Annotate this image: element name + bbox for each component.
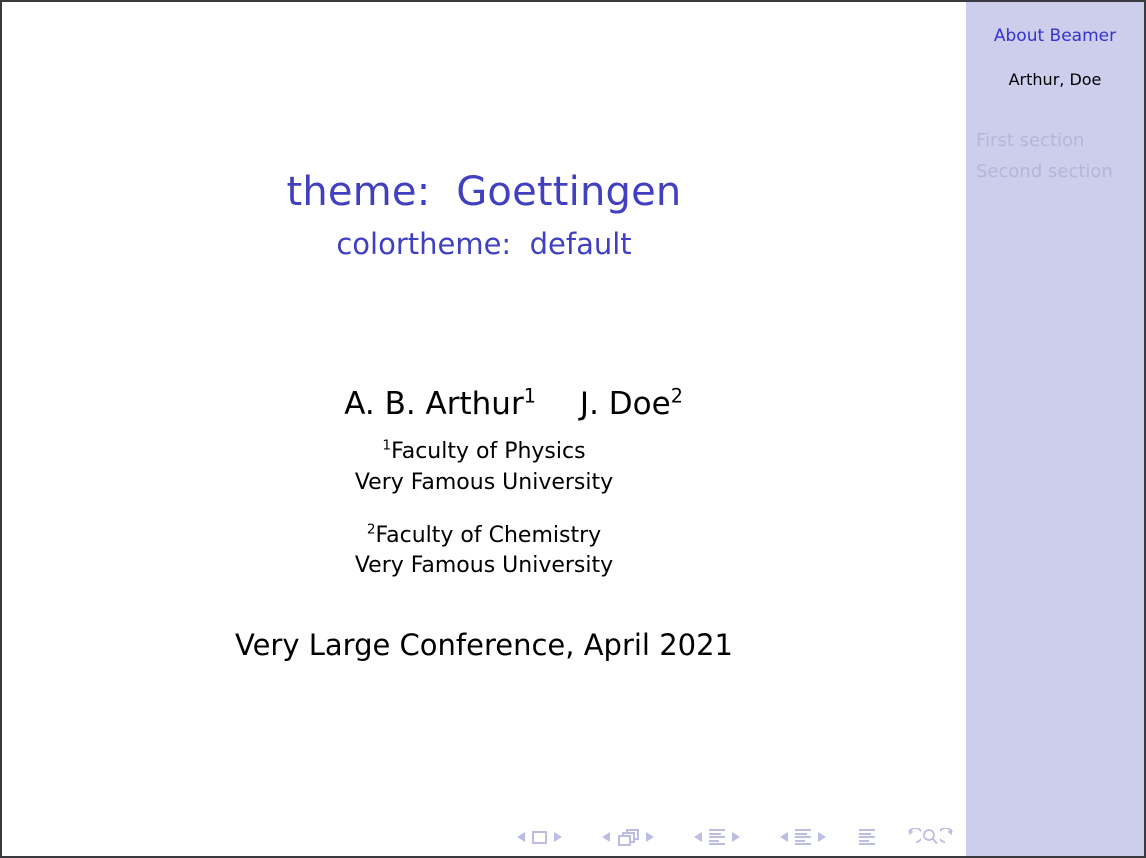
slide-icon[interactable] bbox=[532, 831, 547, 844]
author-two-name: J. Doe bbox=[580, 386, 671, 422]
search-icon[interactable] bbox=[921, 828, 940, 846]
sidebar-item-second-section[interactable]: Second section bbox=[966, 156, 1144, 187]
previous-section-icon[interactable] bbox=[780, 832, 788, 842]
institute-department-line: 2Faculty of Chemistry bbox=[2, 521, 966, 552]
subsection-icon[interactable] bbox=[709, 829, 725, 845]
institute-one-department: Faculty of Physics bbox=[391, 439, 585, 464]
previous-slide-icon[interactable] bbox=[517, 832, 525, 842]
sidebar-section-list: First section Second section bbox=[966, 125, 1144, 187]
section-icon[interactable] bbox=[795, 829, 811, 845]
author-one: A. B. Arthur1 bbox=[344, 386, 536, 422]
subsection-navigation-group[interactable] bbox=[687, 829, 747, 845]
navigation-symbols-bar[interactable] bbox=[2, 822, 966, 852]
beamer-slide-frame: theme: Goettingen colortheme: default A.… bbox=[0, 0, 1146, 858]
next-frame-icon[interactable] bbox=[646, 832, 654, 842]
conference-date: Very Large Conference, April 2021 bbox=[2, 628, 966, 662]
frame-icon[interactable] bbox=[617, 829, 639, 846]
title-block: theme: Goettingen colortheme: default bbox=[2, 170, 966, 261]
institute-entry: 1Faculty of Physics Very Famous Universi… bbox=[2, 437, 966, 499]
author-one-name: A. B. Arthur bbox=[344, 386, 524, 422]
previous-subsection-icon[interactable] bbox=[694, 832, 702, 842]
author-two: J. Doe2 bbox=[580, 386, 683, 422]
back-arrow-icon[interactable] bbox=[901, 828, 921, 846]
frame-navigation-group[interactable] bbox=[595, 829, 661, 846]
institute-one-mark: 1 bbox=[382, 438, 391, 454]
sidebar-author: Arthur, Doe bbox=[966, 70, 1144, 89]
presentation-subtitle: colortheme: default bbox=[2, 227, 966, 261]
sidebar-item-first-section[interactable]: First section bbox=[966, 125, 1144, 156]
institute-one-university: Very Famous University bbox=[2, 468, 966, 499]
presentation-icon[interactable] bbox=[859, 829, 875, 845]
section-navigation-group[interactable] bbox=[773, 829, 833, 845]
sidebar-presentation-title[interactable]: About Beamer bbox=[966, 26, 1144, 46]
document-navigation-group[interactable] bbox=[901, 828, 960, 846]
institute-block: 1Faculty of Physics Very Famous Universi… bbox=[2, 437, 966, 582]
slide-navigation-group[interactable] bbox=[510, 831, 569, 844]
previous-frame-icon[interactable] bbox=[602, 832, 610, 842]
institute-department-line: 1Faculty of Physics bbox=[2, 437, 966, 468]
next-section-icon[interactable] bbox=[818, 832, 826, 842]
next-subsection-icon[interactable] bbox=[732, 832, 740, 842]
author-two-mark: 2 bbox=[671, 385, 683, 408]
navigation-sidebar: About Beamer Arthur, Doe First section S… bbox=[966, 2, 1144, 856]
institute-entry: 2Faculty of Chemistry Very Famous Univer… bbox=[2, 521, 966, 583]
presentation-title: theme: Goettingen bbox=[2, 170, 966, 215]
institute-two-department: Faculty of Chemistry bbox=[376, 523, 602, 548]
institute-two-mark: 2 bbox=[367, 521, 376, 537]
institute-two-university: Very Famous University bbox=[2, 551, 966, 582]
author-one-mark: 1 bbox=[524, 385, 536, 408]
slide-content-area: theme: Goettingen colortheme: default A.… bbox=[2, 2, 966, 856]
forward-arrow-icon[interactable] bbox=[940, 828, 960, 846]
presentation-navigation-group[interactable] bbox=[859, 829, 875, 845]
next-slide-icon[interactable] bbox=[554, 832, 562, 842]
